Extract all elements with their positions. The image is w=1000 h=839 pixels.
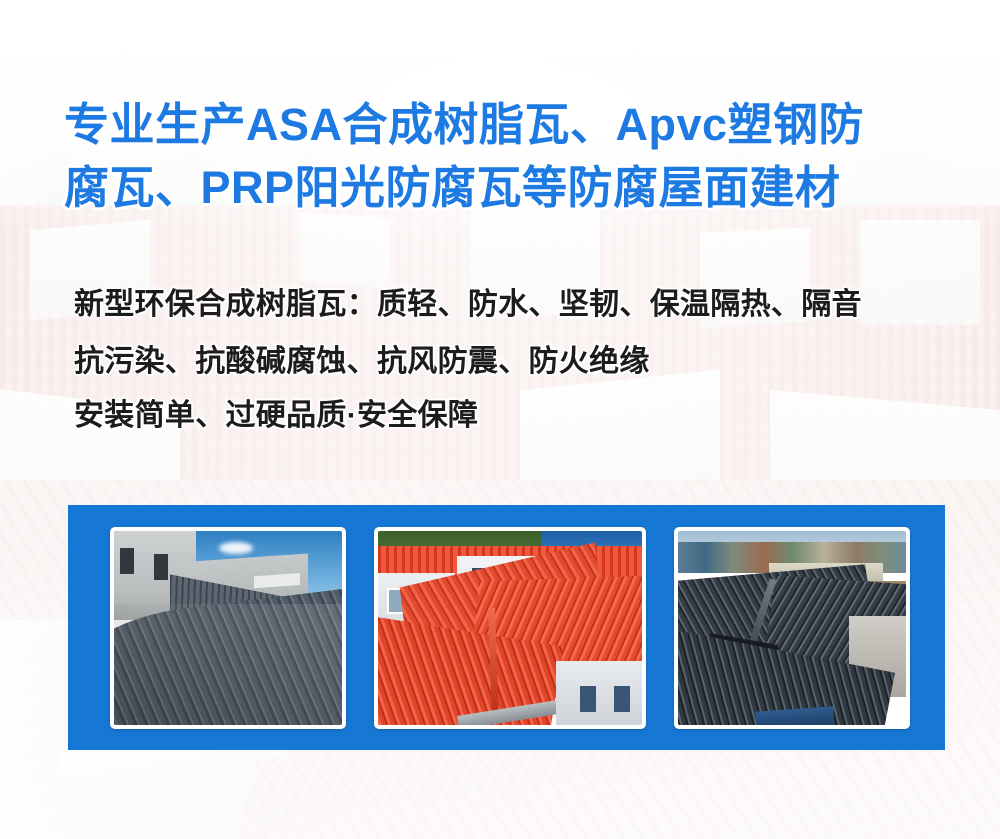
roof-shading: [114, 604, 342, 724]
product-photo-gallery: [68, 505, 945, 750]
cloud-shape: [219, 542, 253, 554]
subcopy-line-quality: 安装简单、过硬品质·安全保障: [74, 390, 954, 442]
black-resin-tile-roof-photo[interactable]: [674, 527, 910, 729]
product-promo-banner: 专业生产ASA合成树脂瓦、Apvc塑钢防 腐瓦、PRP阳光防腐瓦等防腐屋面建材 …: [0, 0, 1000, 839]
lower-right-building: [556, 661, 642, 725]
subcopy-line-features: 新型环保合成树脂瓦：质轻、防水、坚韧、保温隔热、隔音: [74, 276, 954, 333]
grey-resin-tile-roof-photo[interactable]: [110, 527, 346, 729]
banner-subcopy: 新型环保合成树脂瓦：质轻、防水、坚韧、保温隔热、隔音 抗污染、抗酸碱腐蚀、抗风防…: [74, 276, 954, 442]
subcopy-line-resistance: 抗污染、抗酸碱腐蚀、抗风防震、防火绝缘: [74, 333, 954, 390]
banner-content: 专业生产ASA合成树脂瓦、Apvc塑钢防 腐瓦、PRP阳光防腐瓦等防腐屋面建材 …: [0, 0, 1000, 839]
red-resin-tile-roof-photo[interactable]: [374, 527, 646, 729]
banner-headline: 专业生产ASA合成树脂瓦、Apvc塑钢防 腐瓦、PRP阳光防腐瓦等防腐屋面建材: [64, 93, 944, 219]
